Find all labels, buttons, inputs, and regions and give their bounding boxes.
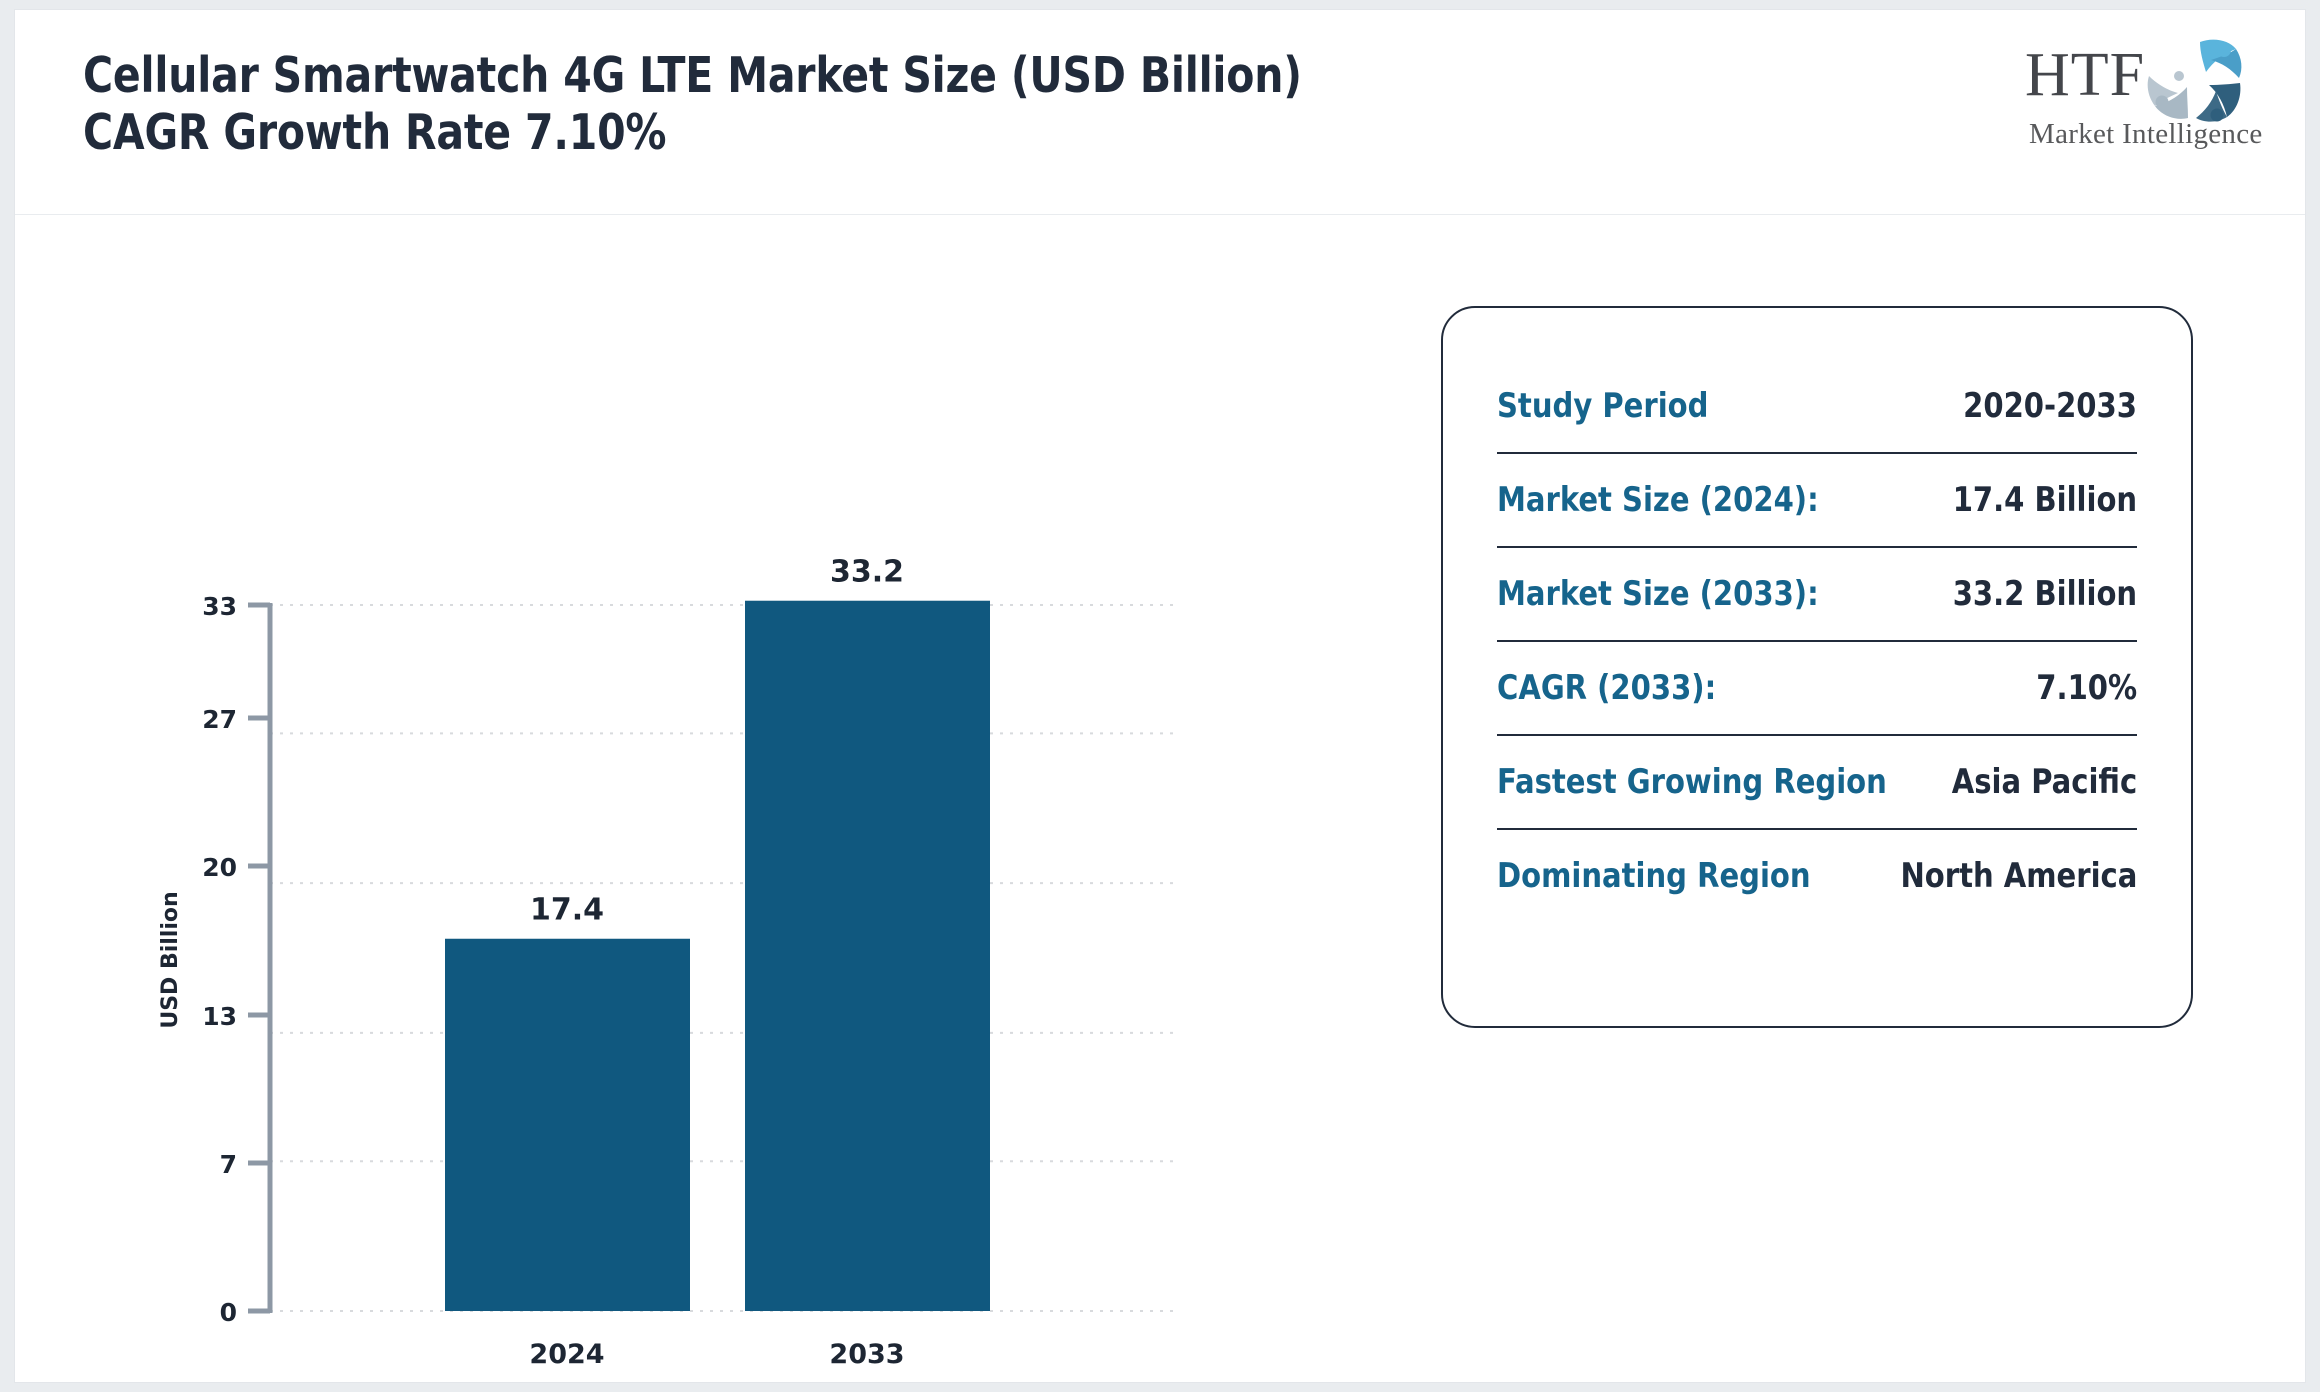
bar-2033[interactable] (745, 601, 990, 1311)
brand-logo: HTF (2017, 38, 2247, 156)
y-tick-label: 20 (202, 853, 237, 882)
page-header: Cellular Smartwatch 4G LTE Market Size (… (15, 10, 2305, 215)
row-label: Market Size (2024): (1497, 480, 1819, 520)
row-label: Fastest Growing Region (1497, 762, 1887, 802)
page-title: Cellular Smartwatch 4G LTE Market Size (… (83, 47, 1320, 162)
gridlines (270, 605, 1175, 1311)
logo-mark: HTF (2017, 38, 2247, 124)
chart-canvas: 33 27 20 13 7 0 USD Billion 17.4 33.2 20… (15, 215, 1355, 1384)
y-axis-title: USD Billion (158, 891, 183, 1028)
y-tick-label: 33 (202, 592, 237, 621)
row-value: 17.4 Billion (1953, 480, 2137, 520)
y-tick-label: 27 (202, 705, 237, 734)
row-value: Asia Pacific (1952, 762, 2137, 802)
row-label: CAGR (2033): (1497, 668, 1716, 708)
market-summary-card: Study Period 2020-2033 Market Size (2024… (1441, 306, 2193, 1028)
row-label: Market Size (2033): (1497, 574, 1819, 614)
row-value: 33.2 Billion (1953, 574, 2137, 614)
summary-row-cagr-2033: CAGR (2033): 7.10% (1497, 642, 2137, 736)
summary-row-fastest-growing-region: Fastest Growing Region Asia Pacific (1497, 736, 2137, 830)
report-page: Cellular Smartwatch 4G LTE Market Size (… (14, 9, 2306, 1383)
y-axis (248, 603, 270, 1313)
row-label: Study Period (1497, 386, 1708, 426)
three-figure-swirl-icon (2143, 36, 2247, 126)
logo-tagline: Market Intelligence (2029, 118, 2263, 151)
bar-value-label: 17.4 (530, 893, 604, 928)
row-value: 7.10% (2036, 668, 2137, 708)
bar-value-label: 33.2 (830, 555, 904, 590)
logo-wordmark: HTF (2025, 44, 2145, 106)
row-value: North America (1900, 856, 2137, 896)
x-tick-label: 2033 (829, 1339, 904, 1370)
summary-row-market-size-2033: Market Size (2033): 33.2 Billion (1497, 548, 2137, 642)
y-tick-label: 0 (220, 1298, 237, 1327)
x-tick-label: 2024 (529, 1339, 604, 1370)
summary-row-dominating-region: Dominating Region North America (1497, 830, 2137, 922)
bar-chart: 33 27 20 13 7 0 USD Billion 17.4 33.2 20… (15, 215, 1355, 1384)
summary-row-study-period: Study Period 2020-2033 (1497, 360, 2137, 454)
row-label: Dominating Region (1497, 856, 1811, 896)
y-tick-label: 7 (220, 1150, 237, 1179)
summary-row-market-size-2024: Market Size (2024): 17.4 Billion (1497, 454, 2137, 548)
bar-2024[interactable] (445, 939, 690, 1311)
y-tick-label: 13 (202, 1002, 237, 1031)
row-value: 2020-2033 (1963, 386, 2137, 426)
